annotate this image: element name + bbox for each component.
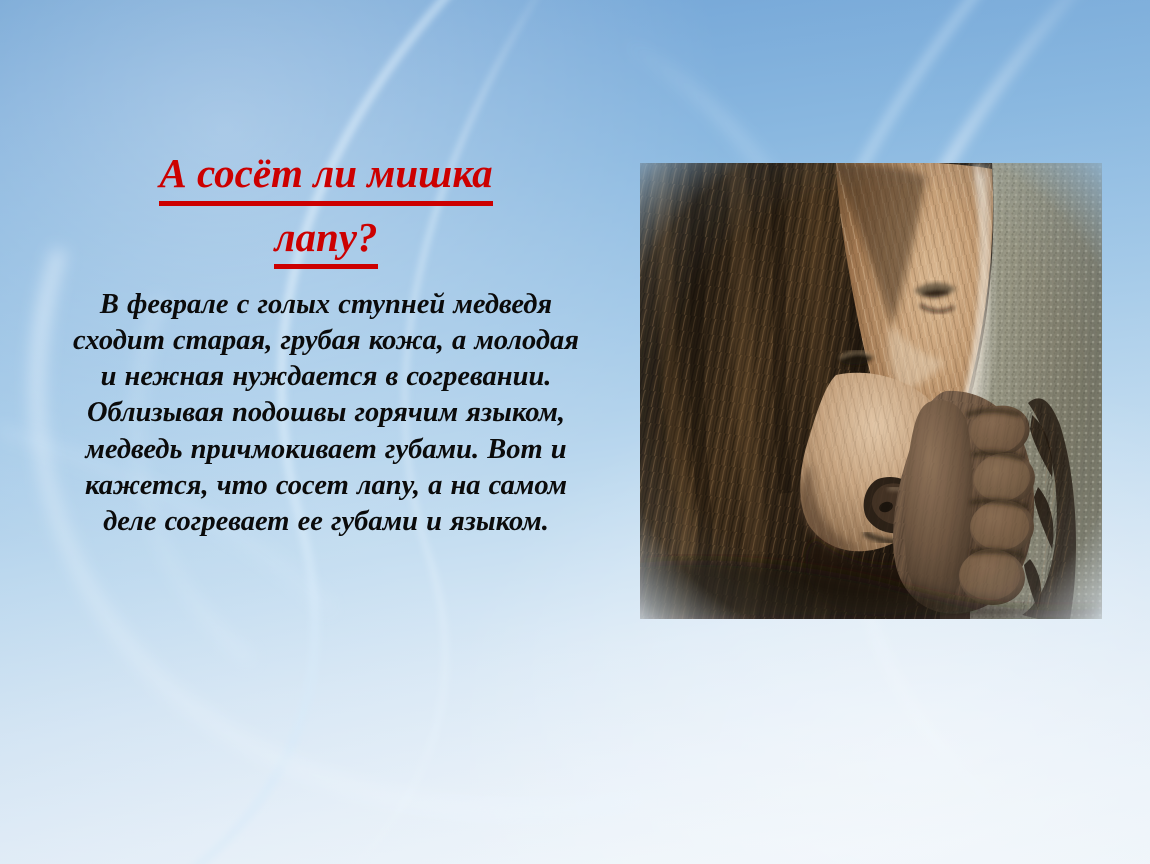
content-text-column: А сосёт ли мишка лапу? В феврале с голых… — [46, 148, 606, 540]
bear-photo-frame — [630, 150, 1112, 632]
bear-photo-soft-edge-mask — [630, 150, 1112, 632]
bear-photo — [640, 163, 1102, 619]
page-title-line-1: А сосёт ли мишка — [159, 148, 492, 206]
page-title: А сосёт ли мишка лапу? — [46, 148, 606, 269]
page-title-line-2: лапу? — [274, 212, 377, 270]
presentation-slide: А сосёт ли мишка лапу? В феврале с голых… — [0, 0, 1150, 864]
bear-photo-illustration — [640, 163, 1102, 619]
body-paragraph: В феврале с голых ступней медведя сходит… — [46, 287, 606, 539]
